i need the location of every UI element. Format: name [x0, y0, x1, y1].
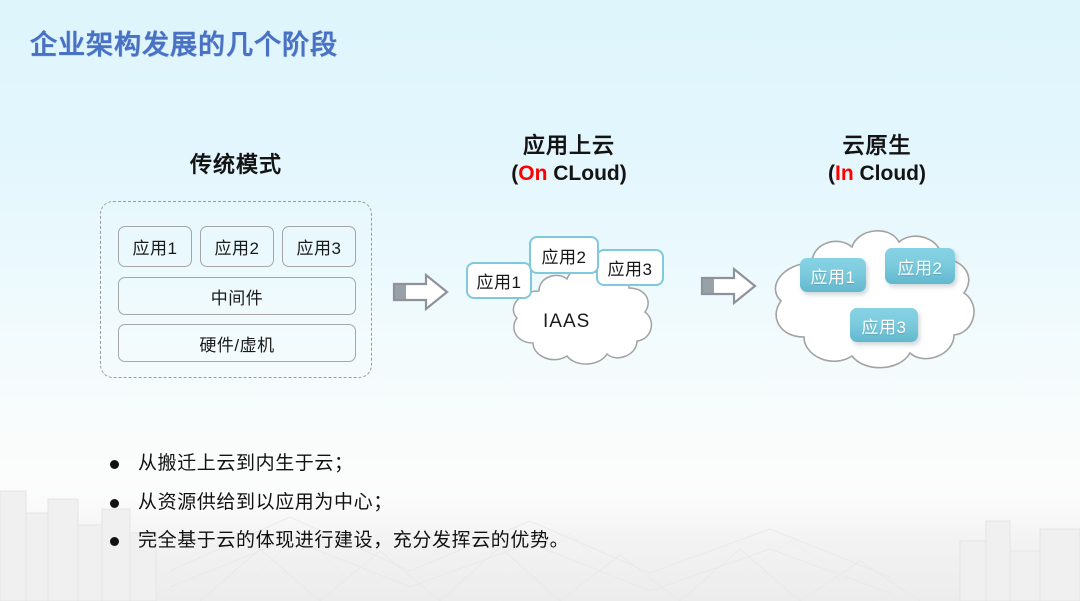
cloud-native-app3-box: 应用3	[850, 308, 918, 342]
traditional-hardware-box: 硬件/虚机	[118, 324, 356, 362]
cloud-native-app1-box: 应用1	[800, 258, 866, 292]
list-item: 从搬迁上云到内生于云；	[110, 452, 730, 477]
bullet-dot-icon	[110, 537, 119, 546]
traditional-app1-box: 应用1	[118, 226, 192, 267]
accent-word-in: In	[835, 162, 854, 185]
stage-title-in-cloud-cn: 云原生	[748, 133, 1006, 159]
bullet-dot-icon	[110, 499, 119, 508]
traditional-stack-container: 应用1 应用2 应用3 中间件 硬件/虚机	[100, 201, 372, 378]
on-cloud-app2-box: 应用2	[529, 236, 599, 274]
traditional-app3-box: 应用3	[282, 226, 356, 267]
accent-word-on: On	[518, 162, 547, 185]
on-cloud-app3-box: 应用3	[596, 249, 664, 286]
stage-title-traditional: 传统模式	[100, 152, 372, 178]
paren-open-2: (	[828, 162, 835, 185]
bullet-dot-icon	[110, 460, 119, 469]
en-rest: CLoud)	[547, 162, 626, 185]
traditional-app2-box: 应用2	[200, 226, 274, 267]
traditional-middleware-box: 中间件	[118, 277, 356, 315]
list-item: 完全基于云的体现进行建设，充分发挥云的优势。	[110, 529, 730, 554]
bullet-text-1: 从搬迁上云到内生于云；	[138, 452, 354, 477]
cloud-native-app2-box: 应用2	[885, 248, 955, 284]
on-cloud-app1-box: 应用1	[466, 262, 532, 299]
stage-arrow-2-icon	[700, 266, 758, 306]
stage-title-in-cloud-en: (In Cloud)	[748, 162, 1006, 187]
stage-title-in-cloud: 云原生 (In Cloud)	[748, 133, 1006, 187]
slide-canvas: 企业架构发展的几个阶段 传统模式 应用1 应用2 应用3 中间件 硬件/虚机 应…	[0, 0, 1080, 601]
stage-title-traditional-cn: 传统模式	[100, 152, 372, 178]
stage-title-on-cloud: 应用上云 (On CLoud)	[438, 133, 700, 187]
list-item: 从资源供给到以应用为中心；	[110, 491, 730, 516]
stage-title-on-cloud-en: (On CLoud)	[438, 162, 700, 187]
bullet-text-2: 从资源供给到以应用为中心；	[138, 491, 393, 516]
bullet-list: 从搬迁上云到内生于云； 从资源供给到以应用为中心； 完全基于云的体现进行建设，充…	[110, 452, 730, 568]
en-rest-2: Cloud)	[854, 162, 926, 185]
stage-arrow-1-icon	[392, 272, 450, 312]
stage-title-on-cloud-cn: 应用上云	[438, 133, 700, 159]
cloud-native-cloud-shape	[752, 215, 1004, 385]
iaas-cloud-label: IAAS	[543, 311, 590, 333]
page-title: 企业架构发展的几个阶段	[30, 23, 338, 62]
bullet-text-3: 完全基于云的体现进行建设，充分发挥云的优势。	[138, 529, 569, 554]
